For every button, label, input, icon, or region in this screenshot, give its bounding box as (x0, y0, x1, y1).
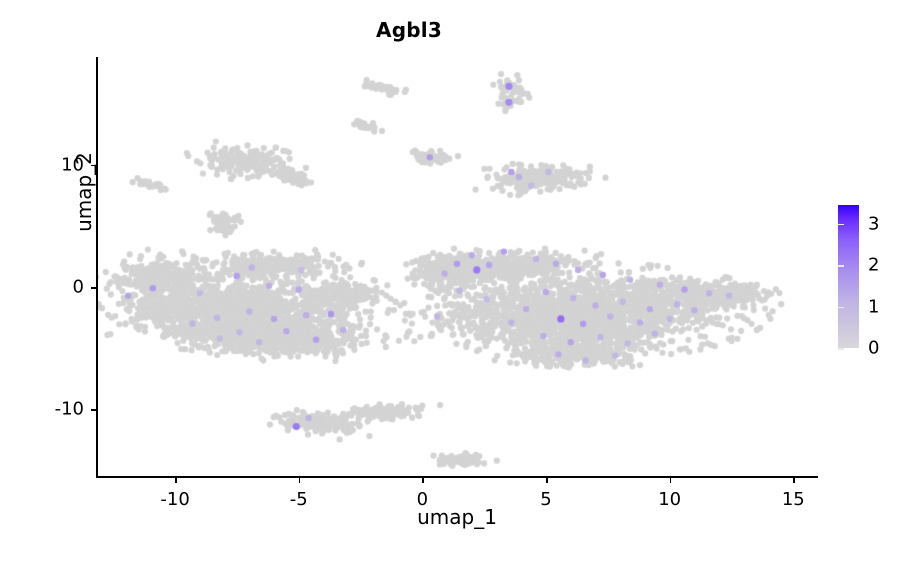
colorbar-tick-mark (838, 348, 844, 350)
colorbar-tick-label: 3 (868, 213, 879, 234)
colorbar-tick-mark (838, 265, 844, 267)
y-tick-mark (91, 287, 96, 289)
umap-feature-plot: Agbl3 -10-5051015-10010 umap_1 umap_2 01… (0, 0, 911, 562)
colorbar-tick-label: 2 (868, 255, 879, 276)
colorbar-tick-label: 0 (868, 338, 879, 359)
x-tick-mark (546, 478, 548, 483)
plot-axes: -10-5051015-10010 (96, 57, 818, 478)
x-axis-label: umap_1 (96, 505, 818, 529)
x-tick-mark (670, 478, 672, 483)
y-tick-label: -10 (55, 399, 84, 420)
page-title: Agbl3 (0, 18, 818, 42)
colorbar-tick-mark (838, 224, 844, 226)
colorbar-tick-mark (838, 307, 844, 309)
scatter-canvas (96, 57, 818, 478)
x-tick-mark (793, 478, 795, 483)
y-axis-label: umap_2 (72, 102, 96, 282)
colorbar-gradient (838, 205, 859, 348)
axis-spine-bottom (96, 476, 818, 478)
y-tick-mark (91, 409, 96, 411)
colorbar-tick-label: 1 (868, 296, 879, 317)
axis-spine-left (96, 57, 98, 478)
x-tick-mark (299, 478, 301, 483)
x-tick-mark (175, 478, 177, 483)
x-tick-mark (422, 478, 424, 483)
